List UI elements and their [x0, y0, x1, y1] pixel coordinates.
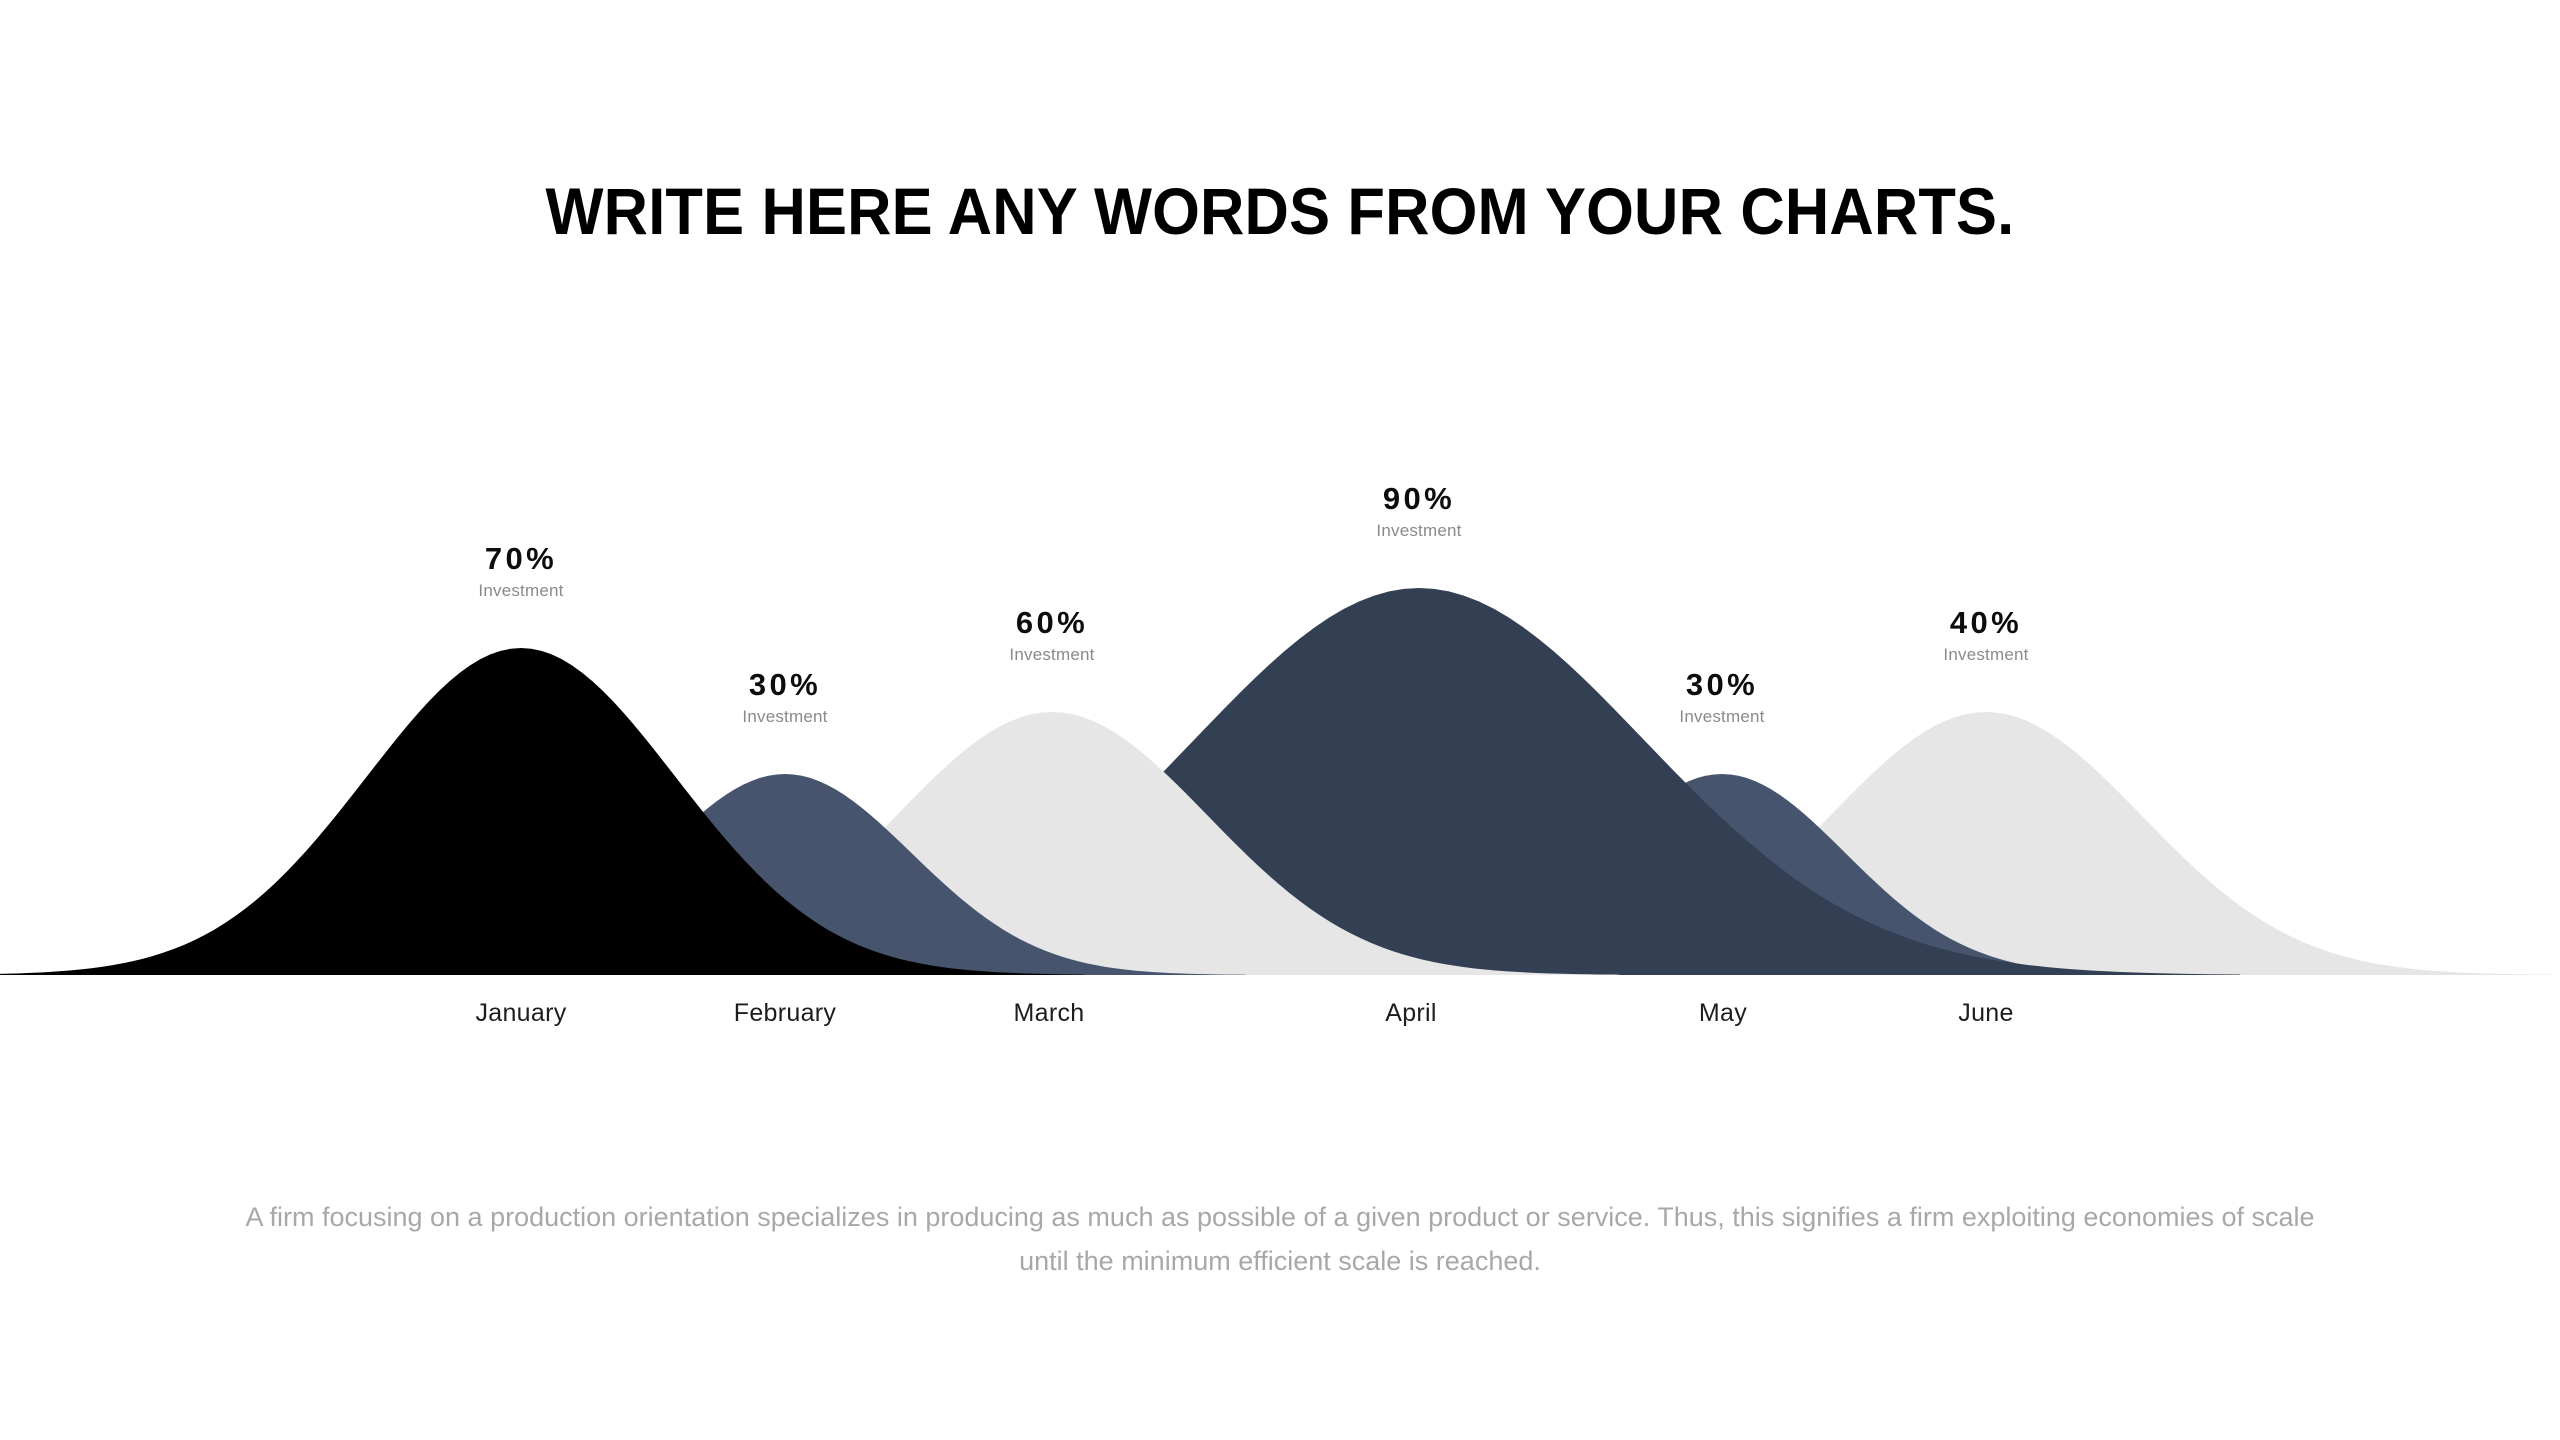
callout-value: 90%	[1376, 483, 1461, 516]
callout-sublabel: Investment	[1679, 708, 1764, 727]
callout-june: 40%Investment	[1943, 607, 2028, 664]
callout-value: 30%	[742, 669, 827, 702]
curve-paths-group	[0, 588, 2553, 975]
callout-sublabel: Investment	[1009, 646, 1094, 665]
callout-value: 60%	[1009, 607, 1094, 640]
month-label-march: March	[1014, 999, 1085, 1028]
month-label-april: April	[1385, 999, 1437, 1028]
caption-text: A firm focusing on a production orientat…	[225, 1196, 2335, 1283]
callout-value: 30%	[1679, 669, 1764, 702]
month-label-may: May	[1699, 999, 1747, 1028]
slide-canvas: WRITE HERE ANY WORDS FROM YOUR CHARTS. 7…	[0, 0, 2560, 1440]
callout-february: 30%Investment	[742, 669, 827, 726]
callout-sublabel: Investment	[1943, 646, 2028, 665]
callout-sublabel: Investment	[742, 708, 827, 727]
callout-april: 90%Investment	[1376, 483, 1461, 540]
month-label-june: June	[1958, 999, 2013, 1028]
bell-curve-chart: 70%Investment30%Investment60%Investment9…	[0, 0, 2560, 1060]
callout-january: 70%Investment	[478, 543, 563, 600]
callout-march: 60%Investment	[1009, 607, 1094, 664]
bell-curves-svg	[0, 0, 2560, 1060]
month-label-january: January	[475, 999, 566, 1028]
callout-sublabel: Investment	[478, 582, 563, 601]
callout-value: 40%	[1943, 607, 2028, 640]
callout-value: 70%	[478, 543, 563, 576]
month-label-february: February	[734, 999, 836, 1028]
callout-sublabel: Investment	[1376, 522, 1461, 541]
callout-may: 30%Investment	[1679, 669, 1764, 726]
